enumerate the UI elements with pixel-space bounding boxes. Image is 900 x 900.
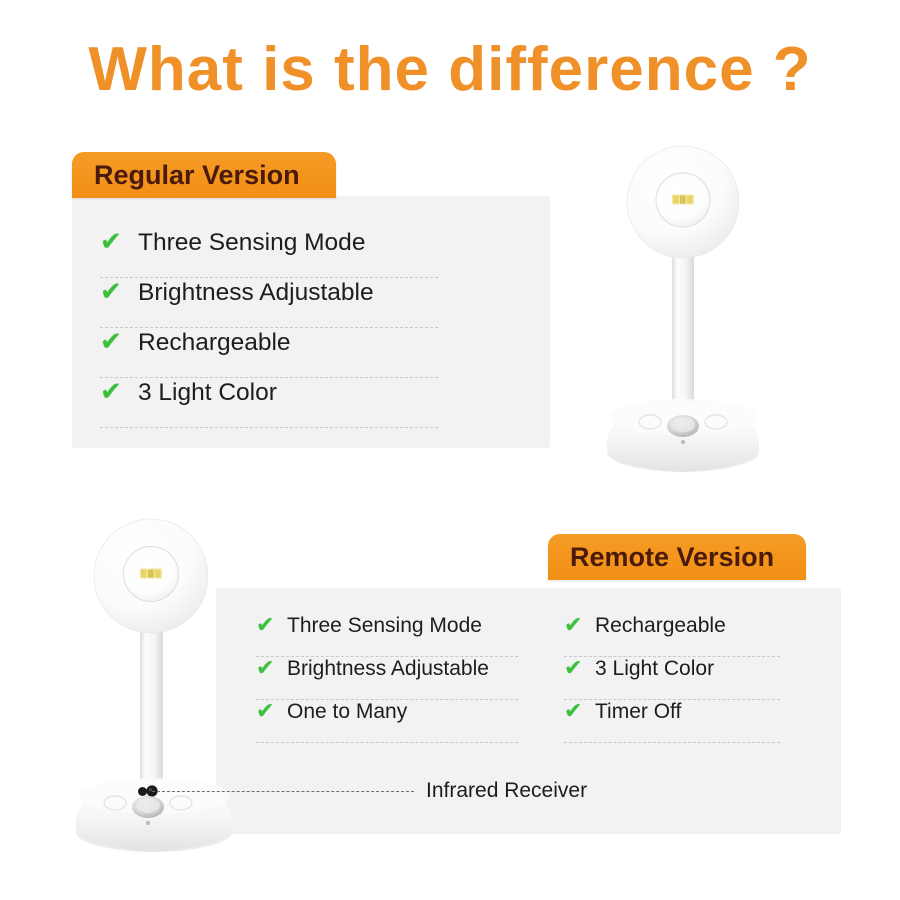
list-item: ✔ One to Many — [256, 700, 518, 743]
feature-label: Timer Off — [595, 700, 681, 724]
feature-label: One to Many — [287, 700, 407, 724]
indicator-dot — [681, 440, 685, 444]
check-icon: ✔ — [564, 700, 595, 722]
check-icon: ✔ — [100, 278, 138, 304]
leader-line — [152, 791, 414, 792]
infographic-canvas: What is the difference ? Regular Version… — [0, 0, 900, 900]
list-item: ✔ Brightness Adjustable — [256, 657, 518, 700]
feature-label: Brightness Adjustable — [138, 279, 374, 307]
feature-label: Brightness Adjustable — [287, 657, 489, 681]
regular-version-badge: Regular Version — [72, 152, 336, 198]
indicator-dot — [146, 821, 150, 825]
led-chip-array — [672, 195, 694, 205]
feature-label: Rechargeable — [138, 329, 291, 357]
check-icon: ✔ — [100, 328, 138, 354]
callout-label: Infrared Receiver — [426, 779, 587, 803]
list-item: ✔ 3 Light Color — [100, 378, 438, 428]
remote-version-feature-list-left: ✔ Three Sensing Mode ✔ Brightness Adjust… — [256, 614, 518, 743]
remote-version-badge-label: Remote Version — [570, 542, 774, 573]
check-icon: ✔ — [100, 228, 138, 254]
remote-version-badge: Remote Version — [548, 534, 806, 580]
gooseneck-stem — [140, 612, 163, 800]
check-icon: ✔ — [256, 657, 287, 679]
feature-label: 3 Light Color — [595, 657, 714, 681]
remote-version-feature-list-right: ✔ Rechargeable ✔ 3 Light Color ✔ Timer O… — [564, 614, 780, 743]
list-item: ✔ Three Sensing Mode — [256, 614, 518, 657]
feature-label: Three Sensing Mode — [287, 614, 482, 638]
list-item: ✔ Timer Off — [564, 700, 780, 743]
feature-label: Three Sensing Mode — [138, 229, 365, 257]
feature-label: 3 Light Color — [138, 379, 277, 407]
regular-version-badge-label: Regular Version — [94, 160, 300, 191]
gooseneck-stem — [672, 236, 694, 424]
check-icon: ✔ — [256, 614, 287, 636]
list-item: ✔ Rechargeable — [100, 328, 438, 378]
check-icon: ✔ — [100, 378, 138, 404]
infrared-receiver-callout: Infrared Receiver — [138, 779, 608, 803]
point-dot-icon — [138, 787, 147, 796]
feature-label: Rechargeable — [595, 614, 726, 638]
list-item: ✔ 3 Light Color — [564, 657, 780, 700]
check-icon: ✔ — [256, 700, 287, 722]
remote-version-lamp — [62, 512, 252, 862]
check-icon: ✔ — [564, 657, 595, 679]
page-title: What is the difference ? — [0, 34, 900, 105]
led-chip-array — [140, 569, 162, 579]
list-item: ✔ Rechargeable — [564, 614, 780, 657]
list-item: ✔ Three Sensing Mode — [100, 228, 438, 278]
motion-sensor-lens — [671, 417, 695, 432]
regular-version-feature-list: ✔ Three Sensing Mode ✔ Brightness Adjust… — [100, 228, 438, 428]
check-icon: ✔ — [564, 614, 595, 636]
regular-version-lamp — [592, 140, 774, 482]
list-item: ✔ Brightness Adjustable — [100, 278, 438, 328]
